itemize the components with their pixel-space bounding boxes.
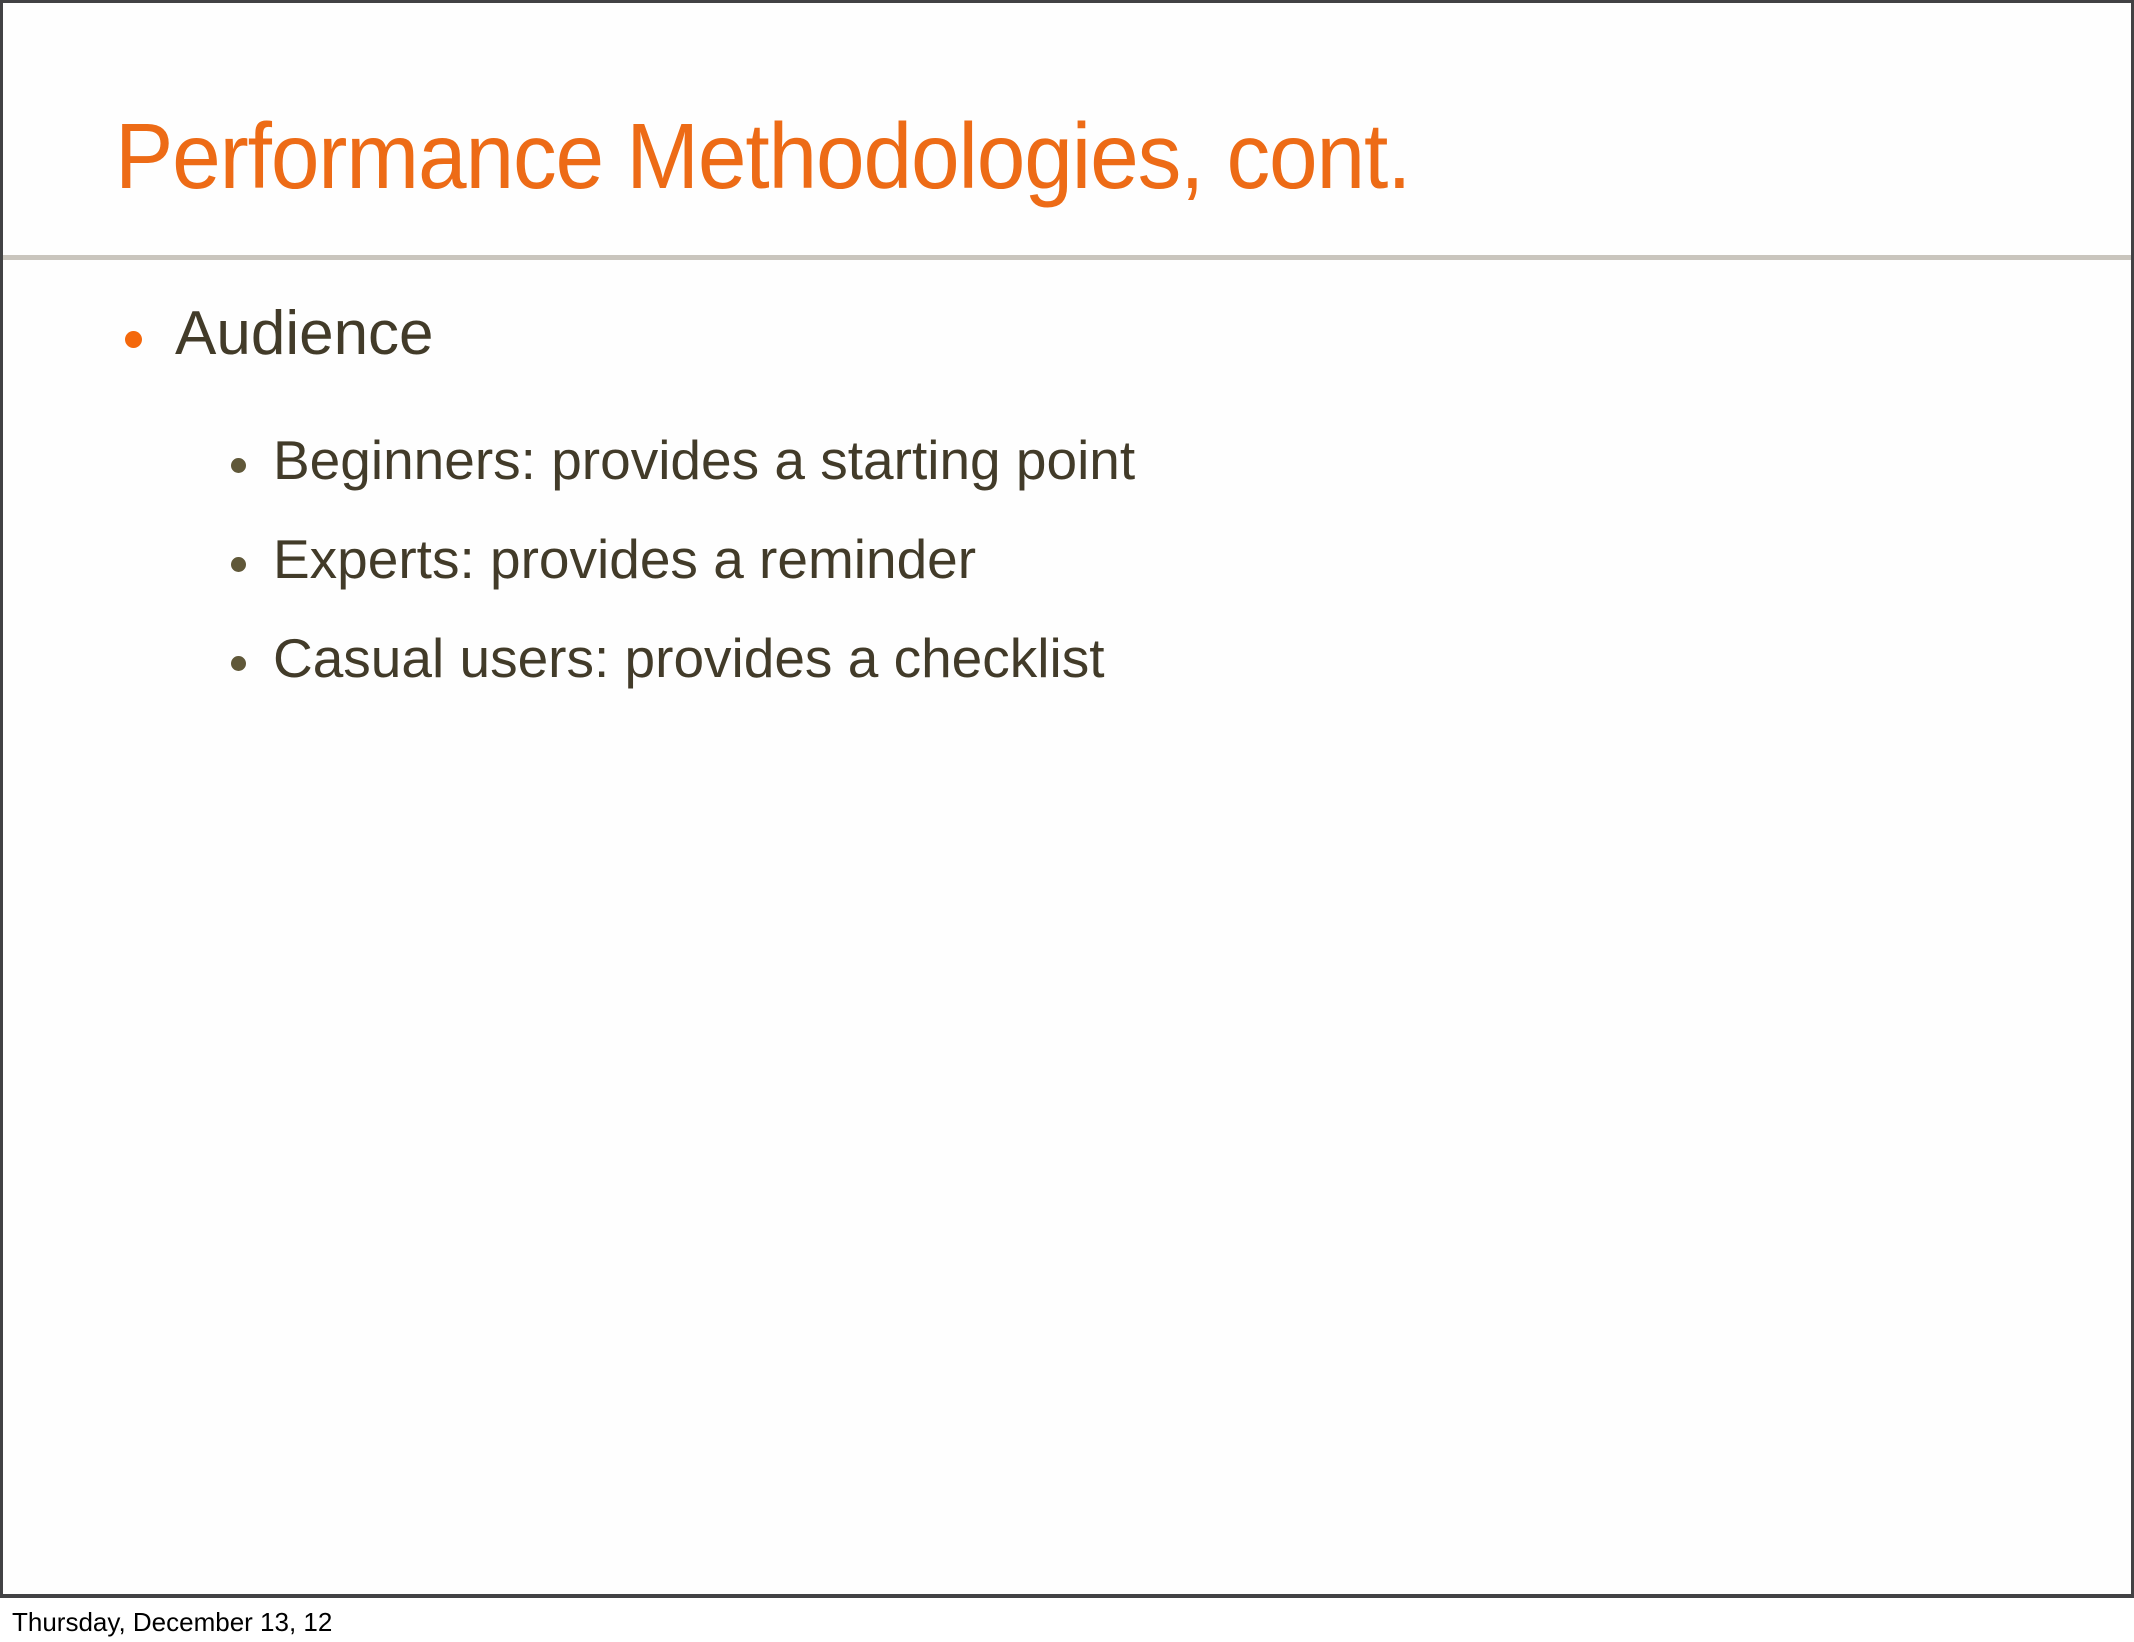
list-item-label: Beginners: provides a starting point	[273, 433, 1135, 488]
bullet-list: Audience Beginners: provides a starting …	[3, 303, 2131, 730]
page-title: Performance Methodologies, cont.	[115, 91, 1901, 221]
bullet-dot-icon	[125, 331, 142, 348]
title-divider	[3, 255, 2131, 260]
bullet-dot-icon	[231, 458, 246, 473]
list-item-label: Experts: provides a reminder	[273, 532, 976, 587]
bullet-dot-icon	[231, 656, 246, 671]
slide-canvas: Performance Methodologies, cont. Audienc…	[0, 0, 2134, 1598]
footer-date: Thursday, December 13, 12	[12, 1602, 912, 1642]
bullet-dot-icon	[231, 557, 246, 572]
slide-stage: Performance Methodologies, cont. Audienc…	[0, 0, 2134, 1642]
list-item: Beginners: provides a starting point	[3, 433, 2131, 488]
list-item-label: Casual users: provides a checklist	[273, 631, 1104, 686]
list-item-label: Audience	[175, 303, 434, 365]
list-item: Casual users: provides a checklist	[3, 631, 2131, 686]
list-item: Audience	[3, 303, 2131, 365]
list-item: Experts: provides a reminder	[3, 532, 2131, 587]
